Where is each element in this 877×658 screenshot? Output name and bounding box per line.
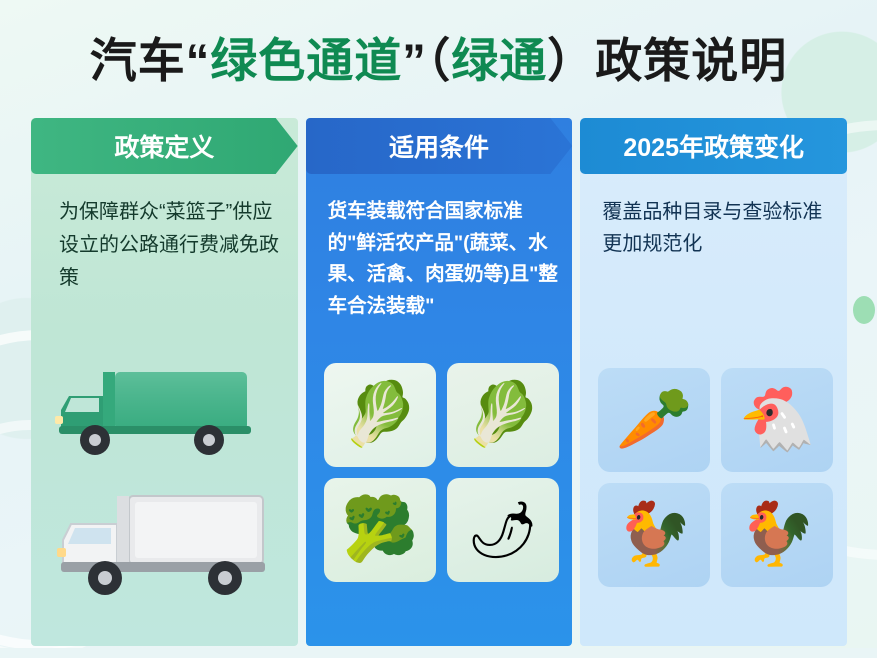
broccoli-icon: 🥦 <box>341 499 418 561</box>
title-suffix: ）政策说明 <box>547 34 787 87</box>
column-3-header: 2025年政策变化 <box>580 118 847 174</box>
title-middle: ”（ <box>402 34 451 87</box>
infographic-canvas: 汽车“绿色通道”（绿通）政策说明 政策定义 为保障群众“菜篮子”供应设立的公路通… <box>0 0 877 658</box>
column-1-body-text: 为保障群众“菜篮子”供应设立的公路通行费减免政策 <box>59 196 281 296</box>
decorative-dot <box>853 296 875 324</box>
column-policy-change-2025: 2025年政策变化 覆盖品种目录与查验标准更加规范化 🥕 🐔 🐓 🐓 <box>580 118 847 646</box>
page-title: 汽车“绿色通道”（绿通）政策说明 <box>0 22 877 91</box>
radish-icon: 🌶 <box>467 502 538 558</box>
column-1-header: 政策定义 <box>31 118 298 174</box>
column-2-header: 适用条件 <box>306 118 573 174</box>
column-3-tile-grid: 🥕 🐔 🐓 🐓 <box>598 368 834 587</box>
rooster-brown-icon: 🐓 <box>739 504 816 566</box>
tile-rooster-brown: 🐓 <box>721 483 833 587</box>
tile-rooster-white: 🐓 <box>598 483 710 587</box>
tile-bok-choy: 🥬 <box>324 363 436 467</box>
column-3-body-text: 覆盖品种目录与查验标准更加规范化 <box>602 196 834 261</box>
hen-icon: 🐔 <box>739 389 816 451</box>
columns-container: 政策定义 为保障群众“菜篮子”供应设立的公路通行费减免政策 <box>31 118 847 646</box>
rooster-white-icon: 🐓 <box>616 504 693 566</box>
tile-carrot: 🥕 <box>598 368 710 472</box>
tile-hen: 🐔 <box>721 368 833 472</box>
column-policy-definition: 政策定义 为保障群众“菜篮子”供应设立的公路通行费减免政策 <box>31 118 298 646</box>
green-box-truck <box>41 356 291 473</box>
footer-strip <box>0 648 877 658</box>
title-prefix: 汽车“ <box>90 34 211 87</box>
column-2-tile-grid: 🥬 🥬 🥦 🌶 <box>324 363 560 582</box>
carrot-icon: 🥕 <box>616 389 693 451</box>
white-box-truck <box>41 478 291 613</box>
column-applicable-conditions: 适用条件 货车装载符合国家标准的"鲜活农产品"(蔬菜、水果、活禽、肉蛋奶等)且"… <box>306 118 573 646</box>
column-2-body-text: 货车装载符合国家标准的"鲜活农产品"(蔬菜、水果、活禽、肉蛋奶等)且"整车合法装… <box>328 196 560 322</box>
title-highlight-2: 绿通 <box>451 34 547 87</box>
tile-cabbage: 🥬 <box>447 363 559 467</box>
cabbage-icon: 🥬 <box>464 384 541 446</box>
title-highlight-1: 绿色通道 <box>210 34 402 87</box>
bok-choy-icon: 🥬 <box>341 384 418 446</box>
tile-broccoli: 🥦 <box>324 478 436 582</box>
tile-radish: 🌶 <box>447 478 559 582</box>
